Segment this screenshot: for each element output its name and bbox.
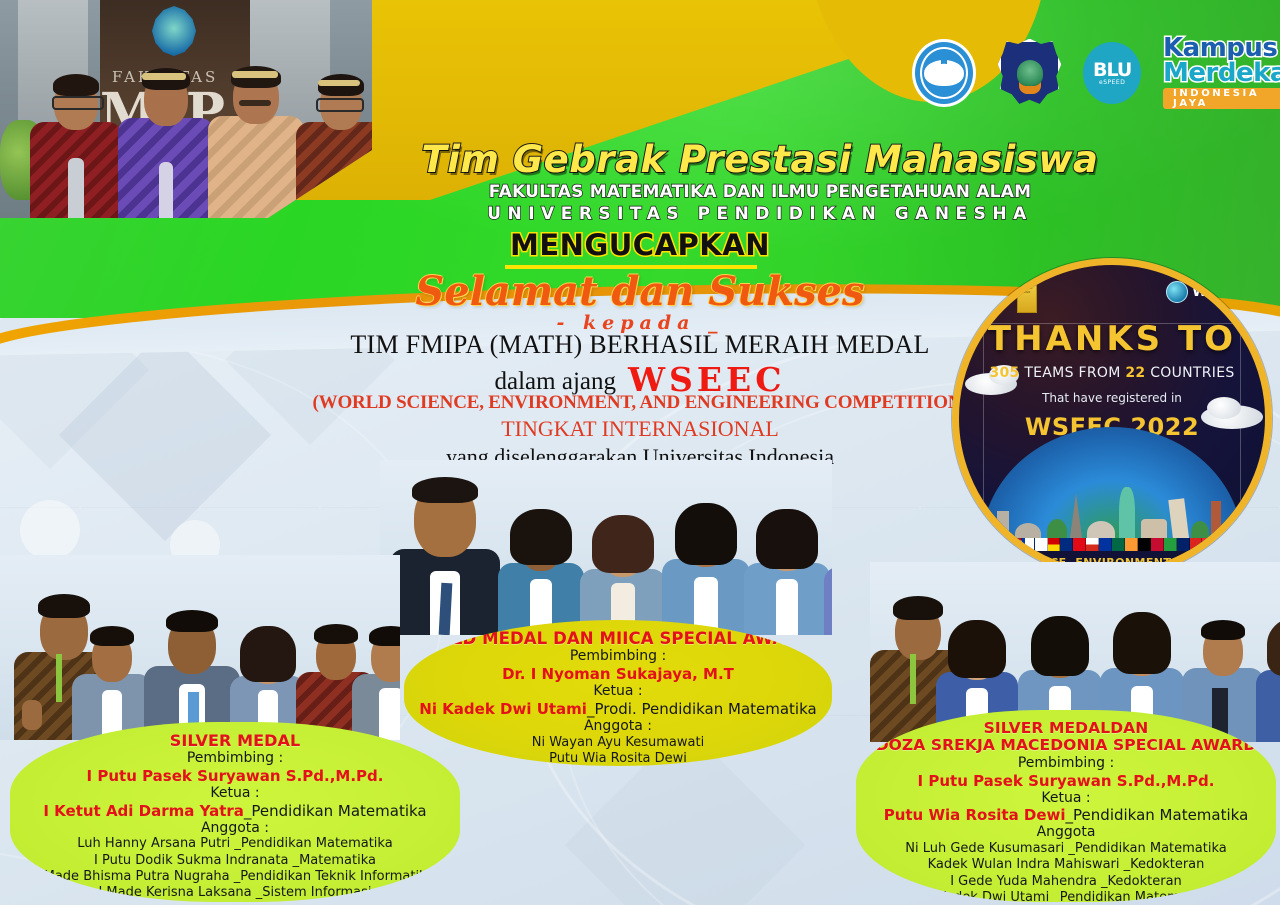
wseec-thanks-heading: THANKS TO bbox=[959, 319, 1265, 359]
student-right-5 bbox=[1256, 598, 1280, 742]
student-gold-4 bbox=[744, 490, 830, 635]
student-left-3 bbox=[230, 608, 306, 740]
gold-pembimbing-label: Pembimbing : bbox=[418, 648, 818, 665]
wseec-teams-line: 305 TEAMS FROM 22 COUNTRIES bbox=[959, 365, 1265, 381]
silver-left-pembimbing-name: I Putu Pasek Suryawan S.Pd.,M.Pd. bbox=[24, 767, 446, 785]
wseec-thanks-poster: WSEEC2022 WSEEC THANKS TO 305 TEAMS FROM… bbox=[952, 258, 1272, 578]
gold-ketua-prodi: _Prodi. Pendidikan Matematika bbox=[587, 700, 817, 718]
student-right-4 bbox=[1182, 596, 1264, 742]
wseec-brand-text: WSEEC bbox=[1192, 284, 1249, 300]
faculty-name: FAKULTAS MATEMATIKA DAN ILMU PENGETAHUAN… bbox=[330, 182, 1190, 202]
body-line-2-prefix: dalam ajang bbox=[495, 368, 616, 395]
thumbs-up-icon bbox=[22, 700, 42, 730]
award-card-silver-left: SILVER MEDAL Pembimbing : I Putu Pasek S… bbox=[10, 722, 460, 902]
body-line-4: TINGKAT INTERNASIONAL bbox=[260, 416, 1020, 442]
world-landmarks-graphic bbox=[989, 449, 1235, 545]
wseec-teams-mid: TEAMS FROM bbox=[1020, 365, 1126, 381]
globe-icon bbox=[1166, 281, 1188, 303]
silver-right-anggota-1: Ni Luh Gede Kusumasari _Pendidikan Matem… bbox=[870, 841, 1262, 857]
university-name: UNIVERSITAS PENDIDIKAN GANESHA bbox=[330, 204, 1190, 224]
wseec-registered-line: That have registered in bbox=[959, 391, 1265, 405]
official-3 bbox=[208, 60, 304, 218]
silver-left-anggota-1: Luh Hanny Arsana Putri _Pendidikan Matem… bbox=[24, 836, 446, 852]
mengucapkan-text: MENGUCAPKAN bbox=[430, 228, 850, 262]
student-gold-3 bbox=[662, 485, 750, 635]
silver-left-anggota-label: Anggota : bbox=[24, 820, 446, 837]
silver-left-ketua-row: I Ketut Adi Darma Yatra_Pendidikan Matem… bbox=[24, 802, 446, 820]
award-card-silver-right: SILVER MEDALDAN DOZA SREKJA MACEDONIA SP… bbox=[856, 710, 1276, 902]
silver-left-pembimbing-label: Pembimbing : bbox=[24, 750, 446, 767]
student-gold-2 bbox=[580, 495, 666, 635]
gold-pembimbing-name: Dr. I Nyoman Sukajaya, M.T bbox=[418, 665, 818, 683]
poster-title: Tim Gebrak Prestasi Mahasiswa bbox=[330, 138, 1190, 181]
selamat-script-text: Selamat dan Sukses bbox=[400, 268, 880, 315]
student-left-5 bbox=[352, 604, 400, 740]
kampus-merdeka-line3: INDONESIA JAYA bbox=[1163, 88, 1280, 109]
wseec-countries-count: 22 bbox=[1125, 365, 1145, 381]
blu-logo-text: BLU bbox=[1093, 59, 1131, 81]
silver-left-ketua-label: Ketua : bbox=[24, 785, 446, 802]
photo-four-officials: FAKULTAS MIP bbox=[0, 0, 372, 218]
wseec-brand-logo: WSEEC bbox=[1166, 281, 1249, 303]
silver-right-ketua-name: Putu Wia Rosita Dewi bbox=[884, 806, 1066, 824]
silver-right-pembimbing-label: Pembimbing : bbox=[870, 755, 1262, 772]
statue-of-liberty-icon bbox=[1119, 487, 1135, 545]
wseec-teams-end: COUNTRIES bbox=[1145, 365, 1234, 381]
silver-right-pembimbing-name: I Putu Pasek Suryawan S.Pd.,M.Pd. bbox=[870, 772, 1262, 790]
gold-ketua-row: Ni Kadek Dwi Utami_Prodi. Pendidikan Mat… bbox=[418, 700, 818, 718]
wseec-medal-ribbon-icon: WSEEC2022 bbox=[1017, 277, 1037, 313]
silver-left-anggota-3: I Made Bhisma Putra Nugraha _Pendidikan … bbox=[24, 869, 446, 885]
student-left-1 bbox=[72, 608, 152, 740]
gold-anggota-label: Anggota : bbox=[418, 718, 818, 735]
poster-canvas: FAKULTAS MIP bbox=[0, 0, 1280, 905]
silver-right-ketua-prodi: _Pendidikan Matematika bbox=[1066, 806, 1249, 824]
silver-left-ketua-prodi: _Pendidikan Matematika bbox=[244, 802, 427, 820]
silver-right-anggota-2: Kadek Wulan Indra Mahiswari _Kedokteran bbox=[870, 857, 1262, 873]
student-left-2 bbox=[144, 590, 240, 740]
photo-gold-team bbox=[380, 460, 832, 635]
silver-right-ketua-label: Ketua : bbox=[870, 790, 1262, 807]
silver-left-ketua-name: I Ketut Adi Darma Yatra bbox=[43, 802, 244, 820]
country-flags-strip bbox=[983, 538, 1241, 551]
body-line-3: (WORLD SCIENCE, ENVIRONMENT, AND ENGINEE… bbox=[260, 392, 1020, 414]
silver-right-title-line2: DOZA SREKJA MACEDONIA SPECIAL AWARD bbox=[870, 737, 1262, 754]
partner-logos: BLU eSPEED Kampus Merdeka INDONESIA JAYA bbox=[912, 36, 1280, 109]
gold-ketua-name: Ni Kadek Dwi Utami bbox=[419, 700, 587, 718]
official-1 bbox=[30, 68, 122, 218]
undiksha-logo-icon bbox=[998, 39, 1062, 107]
kampus-merdeka-line2: Merdeka bbox=[1163, 61, 1280, 86]
official-2 bbox=[118, 62, 214, 218]
gold-anggota-1: Ni Wayan Ayu Kesumawati bbox=[418, 735, 818, 751]
silver-right-anggota-label: Anggota bbox=[870, 824, 1262, 841]
silver-left-anggota-2: I Putu Dodik Sukma Indranata _Matematika bbox=[24, 853, 446, 869]
award-card-gold: GOLD MEDAL DAN MIICA SPECIAL AWARD Pembi… bbox=[404, 620, 832, 766]
blu-logo-subtext: eSPEED bbox=[1099, 79, 1125, 86]
wseec-teams-count: 305 bbox=[989, 365, 1019, 381]
blu-espeed-logo-icon: BLU eSPEED bbox=[1083, 42, 1141, 104]
student-gold-1 bbox=[498, 490, 584, 635]
advisor-gold bbox=[390, 460, 500, 635]
student-gold-5 bbox=[824, 495, 832, 635]
silver-right-ketua-row: Putu Wia Rosita Dewi_Pendidikan Matemati… bbox=[870, 806, 1262, 824]
photo-silver-team-left bbox=[0, 555, 400, 740]
gold-ketua-label: Ketua : bbox=[418, 683, 818, 700]
kampus-merdeka-logo: Kampus Merdeka INDONESIA JAYA bbox=[1163, 36, 1280, 109]
body-line-1: TIM FMIPA (MATH) BERHASIL MERAIH MEDAL bbox=[260, 330, 1020, 360]
tut-wuri-handayani-icon bbox=[912, 39, 976, 107]
